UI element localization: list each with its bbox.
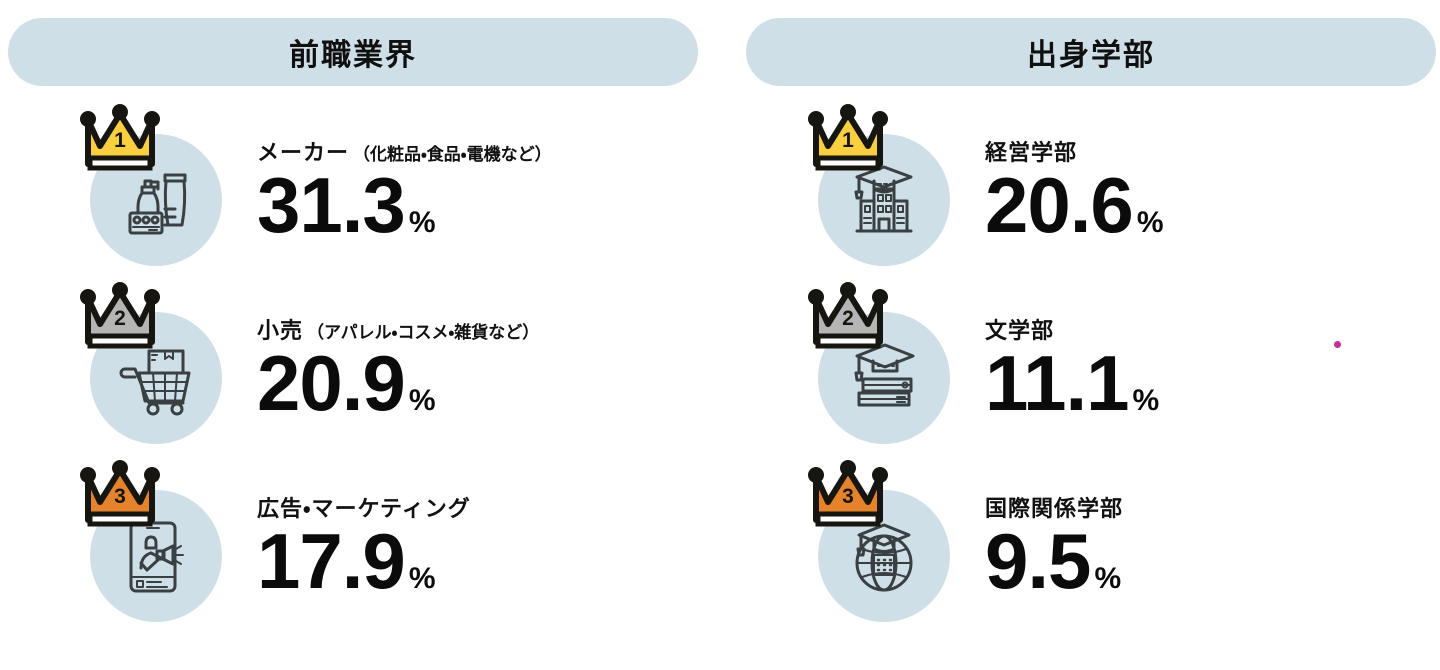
rank-value-unit: % <box>409 386 436 416</box>
rank-text-block: 文学部 11.1 % <box>985 276 1159 420</box>
column-academic-background: 出身学部 <box>730 0 1440 670</box>
rank-value-unit: % <box>1137 208 1164 238</box>
rank-row: 3 広告・マーケティング 17.9 % <box>8 454 730 632</box>
rank-number: 2 <box>76 308 164 329</box>
rank-value-line: 17.9 % <box>257 524 471 598</box>
rank-value: 11.1 <box>985 346 1129 420</box>
rank-number: 3 <box>76 486 164 507</box>
column-header-title: 出身学部 <box>1027 30 1155 74</box>
rank-value-line: 20.9 % <box>257 346 539 420</box>
crown-silver: 2 <box>76 276 164 360</box>
rank-text-block: 国際関係学部 9.5 % <box>985 454 1123 598</box>
rank-badge-area: 3 <box>70 454 245 629</box>
column-header-previous-industry: 前職業界 <box>8 18 698 86</box>
rank-value-line: 11.1 % <box>985 346 1159 420</box>
rank-row: 2 小売 （アパレル・コスメ・雑貨など） 20.9 % <box>8 276 730 454</box>
rank-number: 1 <box>76 130 164 151</box>
rank-row: 2 文学部 11.1 % <box>746 276 1440 454</box>
rank-value-unit: % <box>1133 386 1160 416</box>
crown-bronze: 3 <box>804 454 892 538</box>
rank-value: 31.3 <box>257 168 405 242</box>
crown-bronze: 3 <box>76 454 164 538</box>
rank-value: 20.6 <box>985 168 1133 242</box>
rank-value: 20.9 <box>257 346 405 420</box>
rank-value: 9.5 <box>985 524 1090 598</box>
rank-badge-area: 1 <box>798 98 973 273</box>
rank-badge-area: 1 <box>70 98 245 273</box>
ranking-board: 前職業界 <box>0 0 1440 670</box>
column-header-title: 前職業界 <box>289 30 417 74</box>
rank-text-block: メーカー （化粧品・食品・電機など） 31.3 % <box>257 98 552 242</box>
rank-badge-area: 3 <box>798 454 973 629</box>
stray-dot-artifact <box>1334 341 1341 348</box>
rank-value-line: 31.3 % <box>257 168 552 242</box>
rank-row: 3 国際関係学部 9.5 % <box>746 454 1440 632</box>
rank-value: 17.9 <box>257 524 405 598</box>
rank-value-unit: % <box>409 208 436 238</box>
rank-list-academic-background: 1 経営学部 20.6 % <box>746 98 1440 632</box>
rank-list-previous-industry: 1 メーカー （化粧品・食品・電機など） 31.3 % <box>8 98 730 632</box>
crown-silver: 2 <box>804 276 892 360</box>
column-header-academic-background: 出身学部 <box>746 18 1436 86</box>
rank-value-line: 9.5 % <box>985 524 1123 598</box>
rank-text-block: 広告・マーケティング 17.9 % <box>257 454 471 598</box>
rank-badge-area: 2 <box>798 276 973 451</box>
rank-number: 1 <box>804 130 892 151</box>
rank-value-unit: % <box>409 564 436 594</box>
rank-row: 1 メーカー （化粧品・食品・電機など） 31.3 % <box>8 98 730 276</box>
rank-number: 3 <box>804 486 892 507</box>
rank-number: 2 <box>804 308 892 329</box>
rank-value-unit: % <box>1094 564 1121 594</box>
rank-value-line: 20.6 % <box>985 168 1164 242</box>
rank-text-block: 小売 （アパレル・コスメ・雑貨など） 20.9 % <box>257 276 539 420</box>
column-previous-industry: 前職業界 <box>0 0 730 670</box>
rank-text-block: 経営学部 20.6 % <box>985 98 1164 242</box>
rank-row: 1 経営学部 20.6 % <box>746 98 1440 276</box>
rank-badge-area: 2 <box>70 276 245 451</box>
crown-gold: 1 <box>804 98 892 182</box>
crown-gold: 1 <box>76 98 164 182</box>
